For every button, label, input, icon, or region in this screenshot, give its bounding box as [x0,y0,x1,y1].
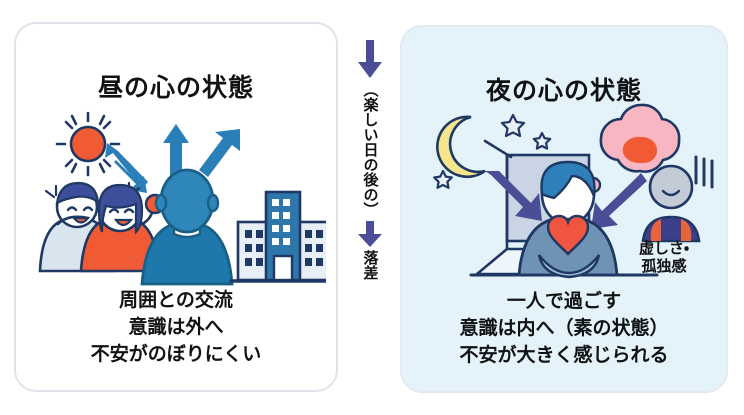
transition-column: （楽しい日の後の） 落差 [344,38,396,378]
night-panel-caption: 一人で過ごす 意識は内へ（素の状態） 不安が大きく感じられる [402,288,726,369]
lonely-feeling-label: 虚しさ・ 孤独感 [616,239,712,275]
down-arrow-icon [356,38,384,80]
lonely-label-line-1: 虚しさ・ [616,239,712,257]
night-caption-line-1: 一人で過ごす [402,288,726,315]
down-arrow-icon-2 [356,219,384,249]
lonely-label-line-2: 孤独感 [616,257,712,275]
day-state-panel: 昼の心の状態 [14,22,338,392]
night-state-panel: 夜の心の状態 [400,25,728,393]
night-caption-line-3: 不安が大きく感じられる [402,342,726,369]
outward-arrow-up-right [199,129,240,177]
night-caption-line-2: 意識は内へ（素の状態） [402,315,726,342]
outward-arrow-up-left-shaft [105,143,148,189]
office-building-icon [231,192,326,281]
day-illustration [16,96,336,286]
sun-icon [57,113,119,175]
day-panel-caption: 周囲との交流 意識は外へ 不安がのぼりにくい [16,287,336,368]
day-caption-line-1: 周囲との交流 [16,287,336,314]
day-caption-line-3: 不安がのぼりにくい [16,341,336,368]
transition-label-bottom: 落差 [363,250,378,280]
central-person-icon [142,170,232,284]
crescent-moon-icon [437,117,485,177]
infographic-canvas: 昼の心の状態 [0,0,744,415]
day-caption-line-2: 意識は外へ [16,314,336,341]
transition-label-top: （楽しい日の後の） [363,82,378,217]
